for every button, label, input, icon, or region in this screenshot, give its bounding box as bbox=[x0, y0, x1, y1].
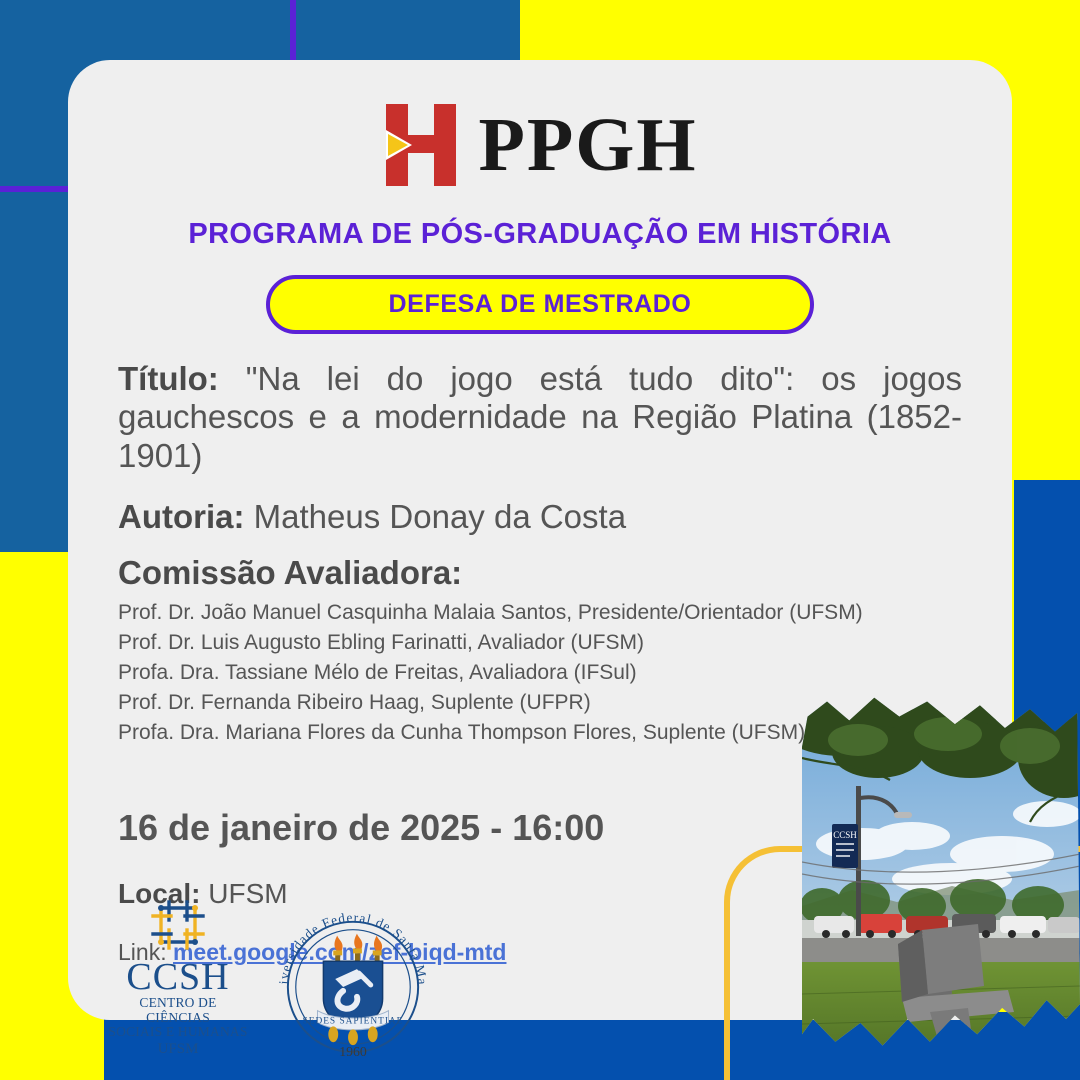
commission-heading: Comissão Avaliadora: bbox=[118, 554, 962, 592]
poster-canvas: PPGH PROGRAMA DE PÓS-GRADUAÇÃO EM HISTÓR… bbox=[0, 0, 1080, 1080]
list-item: Prof. Dr. Luis Augusto Ebling Farinatti,… bbox=[118, 628, 962, 658]
thesis-title-label: Título: bbox=[118, 360, 219, 397]
author-row: Autoria: Matheus Donay da Costa bbox=[118, 497, 962, 537]
ccsh-acronym: CCSH bbox=[108, 958, 248, 996]
list-item: Profa. Dra. Tassiane Mélo de Freitas, Av… bbox=[118, 658, 962, 688]
author-value: Matheus Donay da Costa bbox=[254, 498, 626, 535]
photo-sign-text: CCSH bbox=[833, 830, 857, 840]
ppgh-h-monogram-icon bbox=[382, 104, 460, 186]
author-label: Autoria: bbox=[118, 498, 245, 535]
thesis-title-row: Título: "Na lei do jogo está tudo dito":… bbox=[118, 360, 962, 475]
ufsm-year: 1960 bbox=[339, 1045, 367, 1059]
thesis-title-value: "Na lei do jogo está tudo dito": os jogo… bbox=[118, 360, 962, 474]
program-title: PROGRAMA DE PÓS-GRADUAÇÃO EM HISTÓRIA bbox=[108, 218, 972, 251]
ccsh-interlocking-square-icon bbox=[147, 898, 209, 956]
ccsh-line3: UFSM bbox=[108, 1040, 248, 1059]
ppgh-logo: PPGH bbox=[108, 90, 972, 200]
background-yellow-bottom-left bbox=[0, 1012, 104, 1080]
ccsh-line2: SOCIAIS E HUMANAS bbox=[108, 1025, 248, 1040]
defense-type-badge: DEFESA DE MESTRADO bbox=[266, 275, 814, 334]
list-item: Prof. Dr. João Manuel Casquinha Malaia S… bbox=[118, 598, 962, 628]
ufsm-seal-icon: Universidade Federal de Santa Maria bbox=[274, 908, 432, 1058]
ppgh-wordmark: PPGH bbox=[478, 107, 697, 183]
ccsh-line1: CENTRO DE CIÊNCIAS bbox=[108, 996, 248, 1025]
badge-wrapper: DEFESA DE MESTRADO bbox=[108, 275, 972, 334]
institution-logos: CCSH CENTRO DE CIÊNCIAS SOCIAIS E HUMANA… bbox=[108, 898, 432, 1058]
ccsh-logo: CCSH CENTRO DE CIÊNCIAS SOCIAIS E HUMANA… bbox=[108, 898, 248, 1058]
ufsm-motto: SEDES SAPIENTIAE bbox=[303, 1017, 404, 1027]
